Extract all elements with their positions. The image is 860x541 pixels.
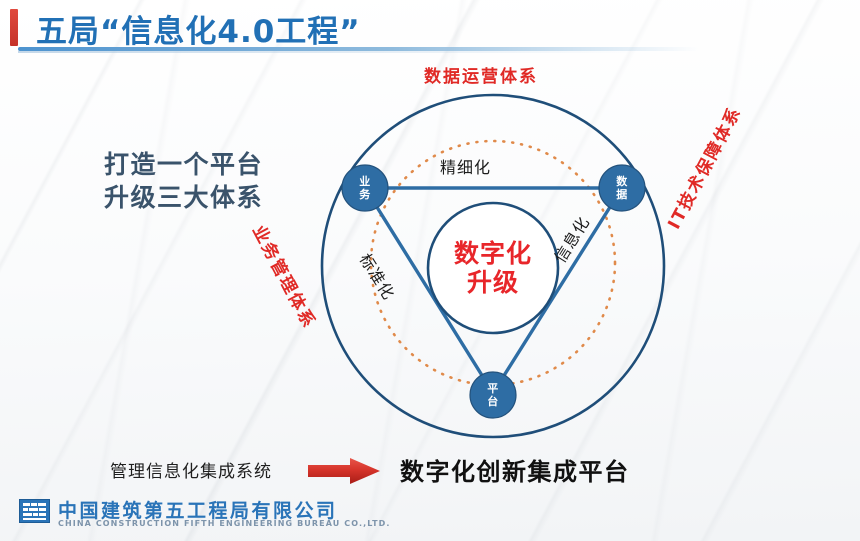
footer-company-name-en: CHINA CONSTRUCTION FIFTH ENGINEERING BUR… <box>58 519 391 528</box>
node-label-platform: 平 台 <box>478 382 508 408</box>
ring-label-data-operation-system: 数据运营体系 <box>424 62 538 87</box>
concentric-circle-diagram: 业 务 数 据 平 台 数字化 升级 精细化 标准化 信息化 数据运营体系 业务… <box>250 88 740 448</box>
slogan-line-2: 升级三大体系 <box>104 181 263 214</box>
core-label: 数字化 升级 <box>433 239 553 297</box>
node-label-data: 数 据 <box>607 175 637 201</box>
node-label-platform-line2: 台 <box>478 395 508 408</box>
node-label-platform-line1: 平 <box>478 382 508 395</box>
transformation-from-label: 管理信息化集成系统 <box>110 457 272 482</box>
title-accent-bar <box>10 9 18 46</box>
node-label-data-line2: 据 <box>607 188 637 201</box>
cscec-logo-icon <box>19 499 50 523</box>
slide-footer: 中国建筑第五工程局有限公司 CHINA CONSTRUCTION FIFTH E… <box>0 494 860 541</box>
slogan-line-1: 打造一个平台 <box>104 148 263 181</box>
node-label-business-line2: 务 <box>350 188 380 201</box>
transformation-to-label: 数字化创新集成平台 <box>400 452 630 487</box>
page-title: 五局“信息化4.0工程” <box>36 6 361 51</box>
transformation-row: 管理信息化集成系统 数字化创新集成平台 <box>110 452 750 492</box>
slogan-block: 打造一个平台 升级三大体系 <box>104 148 263 214</box>
edge-label-refinement: 精细化 <box>440 154 491 178</box>
presentation-slide: 五局“信息化4.0工程” 打造一个平台 升级三大体系 业 务 <box>0 0 860 541</box>
core-label-line1: 数字化 <box>433 239 553 268</box>
title-underline-secondary <box>18 51 638 53</box>
node-label-business: 业 务 <box>350 175 380 201</box>
core-label-line2: 升级 <box>433 268 553 297</box>
arrow-right-icon <box>308 458 380 484</box>
slide-title-bar: 五局“信息化4.0工程” <box>0 0 860 60</box>
node-label-data-line1: 数 <box>607 175 637 188</box>
node-label-business-line1: 业 <box>350 175 380 188</box>
